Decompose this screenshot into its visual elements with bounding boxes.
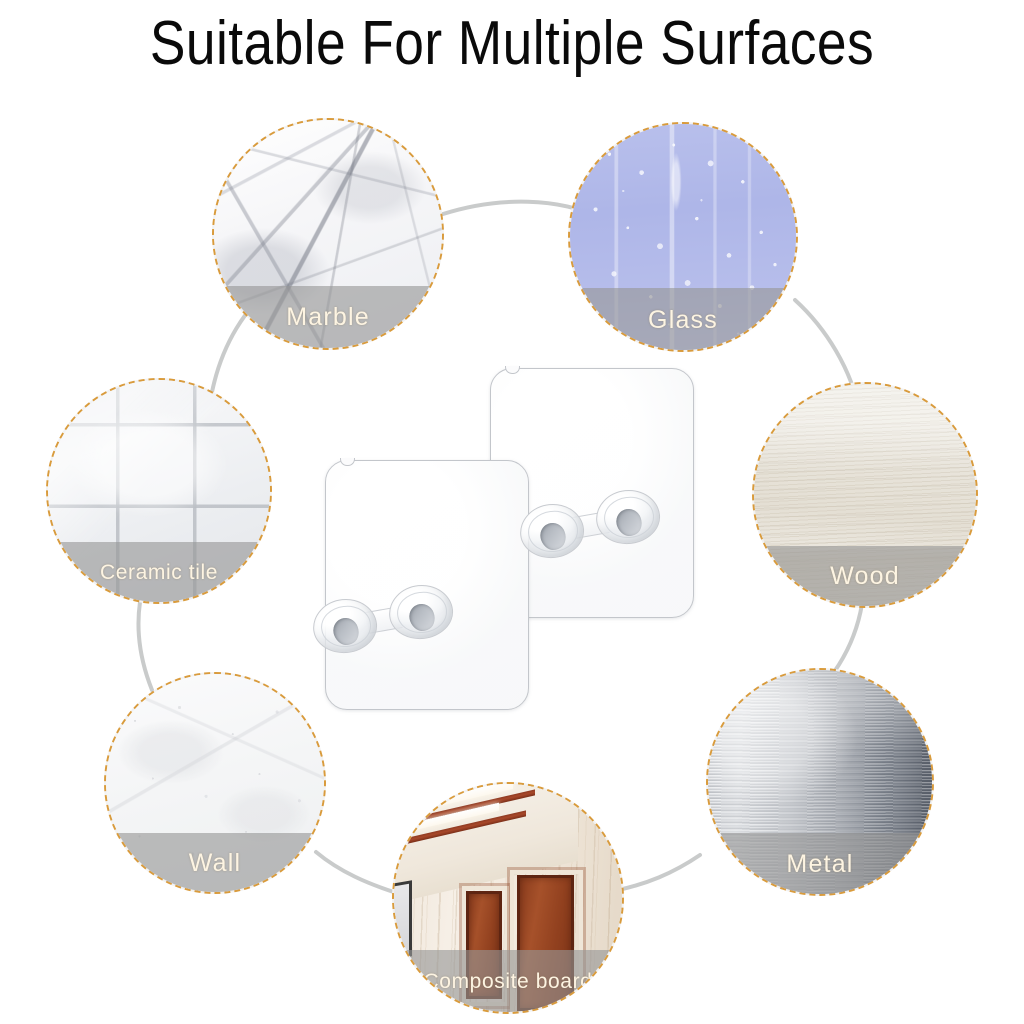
- surface-circle-glass[interactable]: Glass: [568, 122, 798, 352]
- connector-wall-ceramic: [139, 602, 153, 690]
- surface-circle-marble[interactable]: Marble: [212, 118, 444, 350]
- plate-notch: [505, 366, 520, 374]
- page-title: Suitable For Multiple Surfaces: [72, 8, 953, 79]
- surface-circle-metal[interactable]: Metal: [706, 668, 934, 896]
- surface-label-metal: Metal: [706, 833, 934, 896]
- surface-label-glass: Glass: [568, 288, 798, 352]
- plate-notch: [340, 458, 355, 466]
- surface-circle-composite-board[interactable]: Composite board: [392, 782, 624, 1014]
- surface-label-marble: Marble: [212, 286, 444, 350]
- surface-circle-wall[interactable]: Wall: [104, 672, 326, 894]
- surface-circle-ceramic-tile[interactable]: Ceramic tile: [46, 378, 272, 604]
- surface-circle-wood[interactable]: Wood: [752, 382, 978, 608]
- connector-metal-composite: [618, 855, 700, 890]
- product-adhesive-hooks: [305, 360, 725, 710]
- connector-composite-wall: [316, 852, 400, 894]
- surface-label-composite-board: Composite board: [392, 950, 624, 1014]
- surface-label-wall: Wall: [104, 833, 326, 894]
- infographic-canvas: Suitable For Multiple Surfaces Marble Gl…: [0, 0, 1024, 1024]
- surface-label-wood: Wood: [752, 546, 978, 608]
- surface-label-ceramic-tile: Ceramic tile: [46, 542, 272, 604]
